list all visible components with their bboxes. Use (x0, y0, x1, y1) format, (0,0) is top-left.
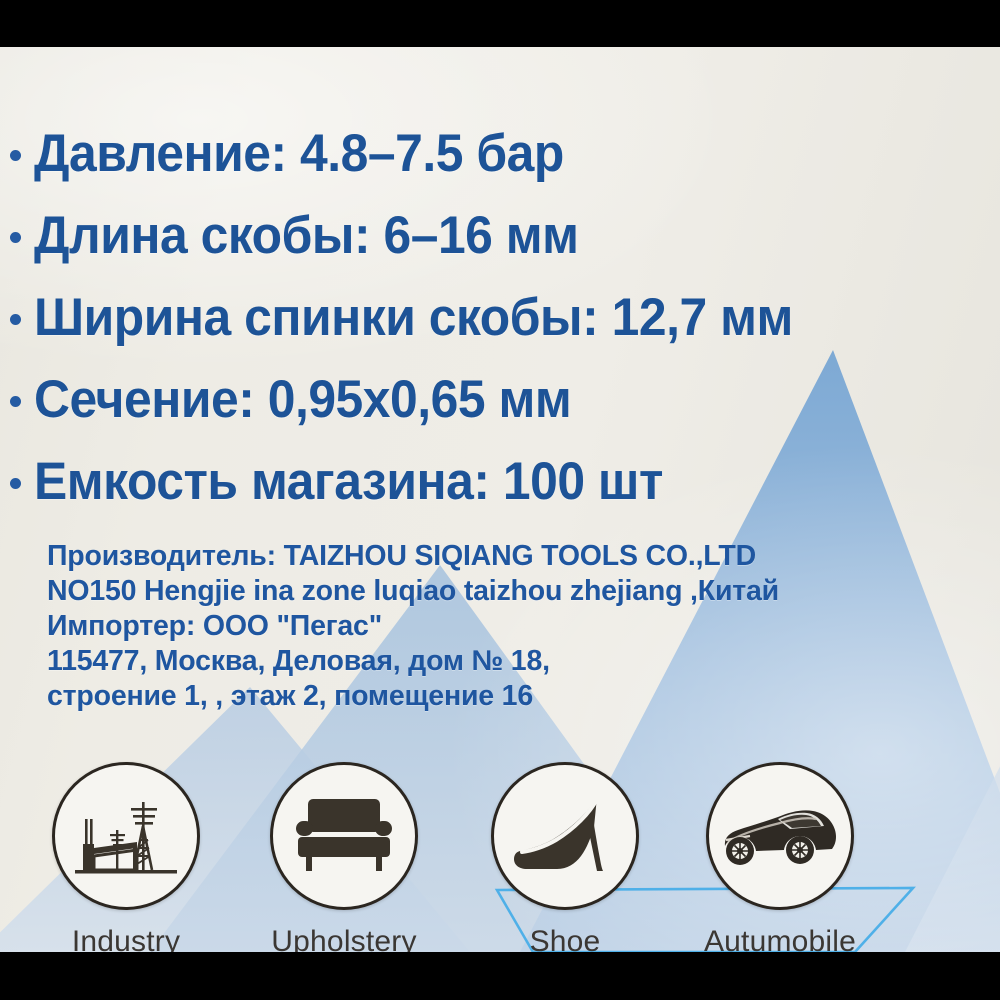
application-label-shoe: Shoe (485, 925, 645, 952)
importer-address-line-1: 115477, Москва, Деловая, дом № 18, (47, 644, 779, 679)
spec-row-magazine-capacity: Емкость магазина: 100 шт (10, 451, 703, 512)
application-circle (52, 762, 200, 910)
spec-label-crown-width: Ширина спинки скобы: 12,7 мм (34, 287, 793, 348)
company-information-block: Производитель: TAIZHOU SIQIANG TOOLS CO.… (47, 539, 779, 714)
importer-line: Импортер: ООО "Пегас" (47, 609, 779, 644)
application-item-automobile: Autumobile (700, 762, 860, 952)
spec-row-staple-length: Длина скобы: 6–16 мм (10, 205, 613, 266)
application-label-upholstery: Upholstery (264, 925, 424, 952)
high-heel-shoe-icon (511, 789, 619, 883)
application-item-industry: Industry (46, 762, 206, 952)
spec-label-magazine-capacity: Емкость магазина: 100 шт (34, 451, 663, 512)
packaging-label-screenshot: Давление: 4.8–7.5 бар Длина скобы: 6–16 … (0, 0, 1000, 1000)
application-circle (491, 762, 639, 910)
spec-label-cross-section: Сечение: 0,95х0,65 мм (34, 369, 571, 430)
spec-row-cross-section: Сечение: 0,95х0,65 мм (10, 369, 606, 430)
importer-address-line-2: строение 1, , этаж 2, помещение 16 (47, 679, 779, 714)
spec-row-crown-width: Ширина спинки скобы: 12,7 мм (10, 287, 841, 348)
application-circle (270, 762, 418, 910)
spec-row-pressure: Давление: 4.8–7.5 бар (10, 123, 598, 184)
manufacturer-address-line: NO150 Hengjie ina zone luqiao taizhou zh… (47, 574, 779, 609)
application-circle (706, 762, 854, 910)
bullet-icon (10, 396, 21, 407)
bullet-icon (10, 478, 21, 489)
application-item-shoe: Shoe (485, 762, 645, 952)
bullet-icon (10, 314, 21, 325)
manufacturer-line: Производитель: TAIZHOU SIQIANG TOOLS CO.… (47, 539, 779, 574)
letterbox-bar-top (0, 0, 1000, 47)
sofa-icon (288, 793, 400, 879)
application-label-automobile: Autumobile (700, 925, 860, 952)
spec-label-pressure: Давление: 4.8–7.5 бар (34, 123, 564, 184)
spec-label-staple-length: Длина скобы: 6–16 мм (34, 205, 579, 266)
carton-surface: Давление: 4.8–7.5 бар Длина скобы: 6–16 … (0, 47, 1000, 952)
bullet-icon (10, 150, 21, 161)
application-item-upholstery: Upholstery (264, 762, 424, 952)
application-label-industry: Industry (46, 925, 206, 952)
bullet-icon (10, 232, 21, 243)
sports-car-icon (720, 800, 840, 872)
factory-power-tower-icon (71, 786, 181, 886)
letterbox-bar-bottom (0, 952, 1000, 1000)
